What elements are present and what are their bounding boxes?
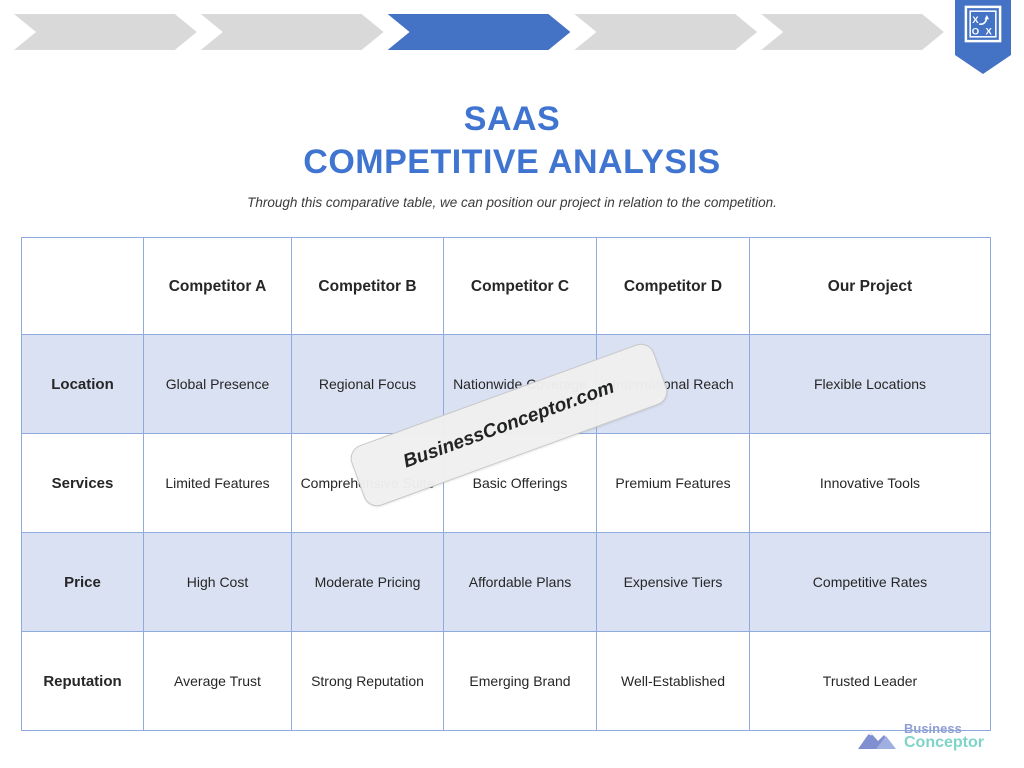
row-header-price: Price <box>22 533 144 632</box>
strategy-badge: X O X <box>955 0 1011 55</box>
page-title-secondary: COMPETITIVE ANALYSIS <box>0 140 1024 184</box>
column-header-our-project: Our Project <box>750 238 991 335</box>
cell-reputation-competitor-a: Average Trust <box>144 632 292 731</box>
nav-step-project[interactable]: PROJECT <box>201 14 384 50</box>
table-row-reputation: Reputation Average Trust Strong Reputati… <box>22 632 991 731</box>
nav-step-opportunity[interactable]: OPPORTUNITY <box>14 14 197 50</box>
cell-price-competitor-d: Expensive Tiers <box>597 533 750 632</box>
cell-reputation-our-project: Trusted Leader <box>750 632 991 731</box>
nav-step-label: OPPORTUNITY <box>14 54 197 66</box>
cell-price-competitor-a: High Cost <box>144 533 292 632</box>
column-header-competitor-c: Competitor C <box>444 238 597 335</box>
cell-location-our-project: Flexible Locations <box>750 335 991 434</box>
table-corner-cell <box>22 238 144 335</box>
column-header-competitor-d: Competitor D <box>597 238 750 335</box>
nav-step-label: PROJECT <box>201 54 384 66</box>
table-header-row: Competitor A Competitor B Competitor C C… <box>22 238 991 335</box>
nav-step-market[interactable]: MARKET <box>388 14 571 50</box>
comparison-table: Competitor A Competitor B Competitor C C… <box>21 237 991 731</box>
step-list: OPPORTUNITY PROJECT MARKET STRATEGY FINA… <box>14 14 944 50</box>
column-header-competitor-a: Competitor A <box>144 238 292 335</box>
row-header-services: Services <box>22 434 144 533</box>
cell-services-our-project: Innovative Tools <box>750 434 991 533</box>
cell-location-competitor-b: Regional Focus <box>292 335 444 434</box>
cell-reputation-competitor-d: Well-Established <box>597 632 750 731</box>
page-title-block: SAAS COMPETITIVE ANALYSIS Through this c… <box>0 98 1024 210</box>
page-title-primary: SAAS <box>0 98 1024 140</box>
nav-step-label: MARKET <box>388 54 571 66</box>
cell-price-competitor-c: Affordable Plans <box>444 533 597 632</box>
row-header-reputation: Reputation <box>22 632 144 731</box>
cell-services-competitor-a: Limited Features <box>144 434 292 533</box>
mountain-peaks-icon <box>856 727 908 751</box>
top-step-navigation: OPPORTUNITY PROJECT MARKET STRATEGY FINA… <box>0 0 1024 80</box>
svg-text:O: O <box>972 26 979 37</box>
cell-reputation-competitor-c: Emerging Brand <box>444 632 597 731</box>
column-header-competitor-b: Competitor B <box>292 238 444 335</box>
nav-step-finances[interactable]: FINANCES <box>761 14 944 50</box>
svg-text:X: X <box>986 26 993 37</box>
cell-reputation-competitor-b: Strong Reputation <box>292 632 444 731</box>
business-conceptor-logo: Business Conceptor <box>856 722 1006 754</box>
comparison-table-container: Competitor A Competitor B Competitor C C… <box>21 237 990 721</box>
page-subtitle: Through this comparative table, we can p… <box>0 195 1024 210</box>
strategy-playbook-icon: X O X <box>964 5 1002 43</box>
logo-wordmark: Business Conceptor <box>904 722 1008 754</box>
cell-services-competitor-d: Premium Features <box>597 434 750 533</box>
nav-step-label: FINANCES <box>761 54 944 66</box>
cell-price-our-project: Competitive Rates <box>750 533 991 632</box>
cell-location-competitor-a: Global Presence <box>144 335 292 434</box>
logo-text-conceptor: Conceptor <box>904 735 1008 751</box>
strategy-badge-point <box>955 55 1011 74</box>
cell-price-competitor-b: Moderate Pricing <box>292 533 444 632</box>
svg-text:X: X <box>972 15 979 26</box>
nav-step-strategy[interactable]: STRATEGY <box>574 14 757 50</box>
nav-step-label: STRATEGY <box>574 54 757 66</box>
table-row-price: Price High Cost Moderate Pricing Afforda… <box>22 533 991 632</box>
row-header-location: Location <box>22 335 144 434</box>
